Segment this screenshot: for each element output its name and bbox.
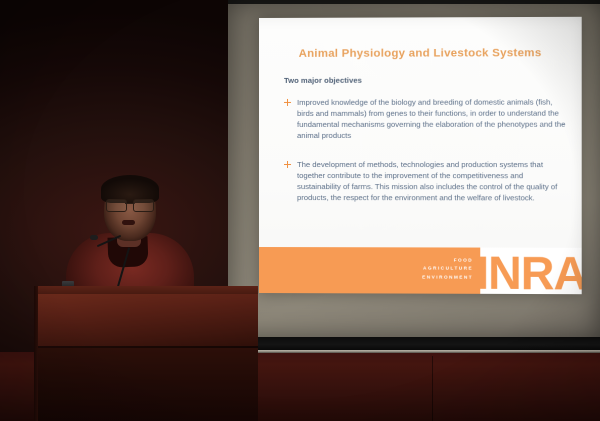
footer-tagline-line: AGRICULTURE xyxy=(422,265,473,274)
podium-left-edge xyxy=(34,286,38,421)
wall-panel-seam xyxy=(432,356,433,421)
footer-tagline-line: FOOD xyxy=(422,256,473,265)
svg-text:INRA: INRA xyxy=(480,248,581,295)
wall-rail xyxy=(228,350,600,353)
slide-subtitle: Two major objectives xyxy=(284,76,362,85)
presenter-mouth xyxy=(122,220,135,225)
footer-tagline-line: ENVIRONMENT xyxy=(422,273,473,282)
inra-logo: INRA xyxy=(480,248,581,295)
bullet-text: Improved knowledge of the biology and br… xyxy=(297,97,569,142)
presentation-slide: Animal Physiology and Livestock Systems … xyxy=(259,17,582,294)
podium-front-panel xyxy=(34,294,258,350)
presentation-photo-scene: Animal Physiology and Livestock Systems … xyxy=(0,0,600,421)
diamond-bullet-icon xyxy=(284,99,291,106)
footer-tagline: FOOD AGRICULTURE ENVIRONMENT xyxy=(422,256,473,282)
screen-lower-frame xyxy=(228,337,600,351)
diamond-bullet-icon xyxy=(284,161,291,168)
microphone-head xyxy=(90,235,98,240)
glasses-icon xyxy=(106,199,154,210)
screen-top-frame xyxy=(228,0,600,4)
slide-title: Animal Physiology and Livestock Systems xyxy=(259,47,582,60)
bullet-item: Improved knowledge of the biology and br… xyxy=(284,97,569,142)
podium-lower-body xyxy=(34,348,258,421)
bullet-item: The development of methods, technologies… xyxy=(284,159,569,204)
bullet-text: The development of methods, technologies… xyxy=(297,159,569,204)
glasses-left-lens xyxy=(106,199,127,212)
slide-footer-bar: FOOD AGRICULTURE ENVIRONMENT INRA xyxy=(259,247,582,294)
glasses-right-lens xyxy=(133,199,154,212)
